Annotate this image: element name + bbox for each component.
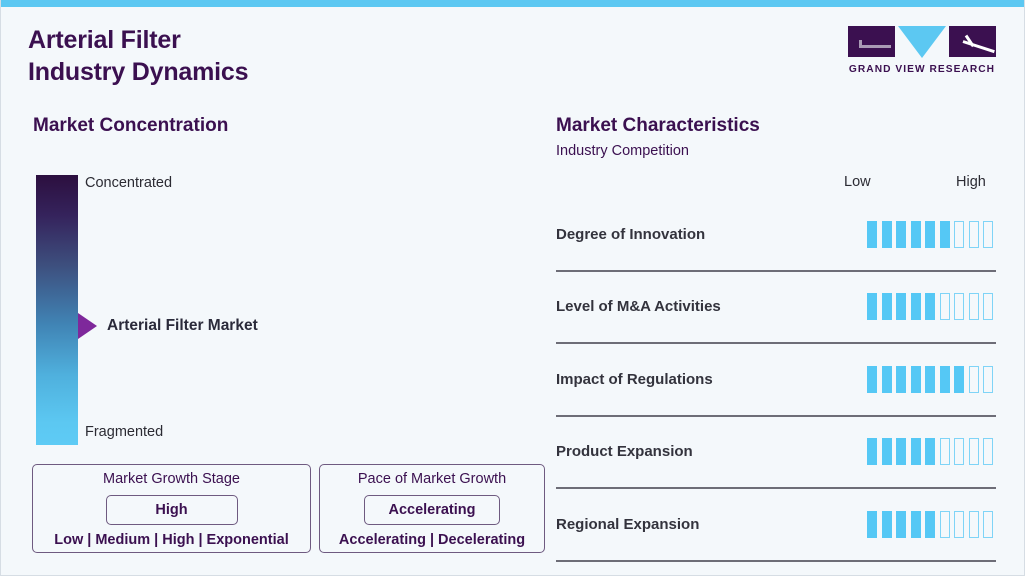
rating-segment-filled: [911, 293, 921, 320]
triangle-pointer-icon: [78, 313, 97, 339]
rating-segment-empty: [969, 221, 979, 248]
logo-wordmark: GRAND VIEW RESEARCH: [848, 64, 996, 75]
logo-marks: [848, 26, 996, 59]
logo-box-right-icon: [949, 26, 996, 57]
rating-segment-filled: [882, 366, 892, 393]
rating-segment-empty: [954, 293, 964, 320]
market-characteristics-subtitle: Industry Competition: [556, 143, 689, 159]
rating-segment-filled: [867, 366, 877, 393]
market-growth-stage-value-chip: High: [106, 495, 238, 525]
page-title-line-2: Industry Dynamics: [28, 56, 248, 88]
characteristic-label: Regional Expansion: [556, 516, 867, 533]
rating-segment-filled: [896, 366, 906, 393]
concentration-gradient-bar: [36, 175, 78, 445]
characteristic-label: Product Expansion: [556, 443, 867, 460]
rating-segment-filled: [882, 511, 892, 538]
logo-accent-vertical: [859, 40, 862, 48]
rating-segment-filled: [882, 293, 892, 320]
scale-legend-low: Low: [844, 174, 871, 190]
grand-view-research-logo: GRAND VIEW RESEARCH: [848, 26, 996, 75]
rating-segment-filled: [896, 293, 906, 320]
rating-segment-filled: [925, 511, 935, 538]
characteristic-rating-bars: [867, 293, 993, 320]
concentration-top-label: Concentrated: [85, 175, 172, 191]
rating-segment-filled: [925, 438, 935, 465]
characteristic-row: Level of M&A Activities: [556, 272, 996, 345]
rating-segment-filled: [882, 221, 892, 248]
logo-triangle-icon: [898, 26, 946, 58]
rating-segment-empty: [983, 366, 993, 393]
market-position-marker: Arterial Filter Market: [78, 313, 258, 339]
characteristic-label: Level of M&A Activities: [556, 298, 867, 315]
market-growth-pace-value: Accelerating: [388, 502, 475, 518]
rating-segment-filled: [925, 293, 935, 320]
market-growth-stage-box: Market Growth Stage High Low | Medium | …: [32, 464, 311, 553]
characteristic-label: Impact of Regulations: [556, 371, 867, 388]
rating-segment-empty: [983, 511, 993, 538]
logo-arrow-line-a: [963, 40, 995, 53]
rating-segment-filled: [954, 366, 964, 393]
rating-segment-empty: [954, 438, 964, 465]
rating-segment-empty: [954, 511, 964, 538]
rating-segment-empty: [954, 221, 964, 248]
rating-segment-empty: [940, 293, 950, 320]
rating-segment-filled: [940, 366, 950, 393]
rating-segment-empty: [983, 438, 993, 465]
market-growth-pace-box: Pace of Market Growth Accelerating Accel…: [319, 464, 545, 553]
rating-segment-filled: [896, 511, 906, 538]
market-growth-pace-options: Accelerating | Decelerating: [329, 532, 535, 548]
characteristic-row: Product Expansion: [556, 417, 996, 490]
page-title: Arterial Filter Industry Dynamics: [28, 24, 248, 88]
rating-segment-filled: [867, 438, 877, 465]
characteristic-row: Impact of Regulations: [556, 344, 996, 417]
rating-segment-filled: [867, 293, 877, 320]
rating-segment-filled: [896, 438, 906, 465]
market-growth-stage-title: Market Growth Stage: [42, 472, 301, 488]
market-growth-pace-value-chip: Accelerating: [364, 495, 500, 525]
rating-segment-empty: [940, 438, 950, 465]
characteristic-label: Degree of Innovation: [556, 226, 867, 243]
rating-segment-filled: [925, 221, 935, 248]
market-position-marker-label: Arterial Filter Market: [107, 317, 258, 335]
characteristic-row: Regional Expansion: [556, 489, 996, 562]
characteristic-row: Degree of Innovation: [556, 199, 996, 272]
rating-segment-filled: [867, 221, 877, 248]
rating-segment-filled: [867, 511, 877, 538]
characteristic-rating-bars: [867, 366, 993, 393]
rating-segment-filled: [925, 366, 935, 393]
rating-segment-filled: [911, 438, 921, 465]
concentration-bottom-label: Fragmented: [85, 424, 163, 440]
logo-accent-horizontal: [859, 45, 891, 48]
page-title-line-1: Arterial Filter: [28, 24, 248, 56]
market-characteristics-rows: Degree of InnovationLevel of M&A Activit…: [556, 199, 996, 562]
top-accent-bar: [1, 0, 1025, 7]
market-growth-stage-value: High: [155, 502, 187, 518]
rating-segment-empty: [969, 438, 979, 465]
scale-legend-high: High: [956, 174, 986, 190]
characteristic-rating-bars: [867, 511, 993, 538]
rating-segment-empty: [969, 293, 979, 320]
rating-segment-empty: [969, 511, 979, 538]
rating-segment-filled: [940, 221, 950, 248]
market-concentration-heading: Market Concentration: [33, 115, 228, 137]
rating-segment-filled: [896, 221, 906, 248]
infographic-canvas: Arterial Filter Industry Dynamics GRAND …: [0, 0, 1025, 576]
characteristic-rating-bars: [867, 221, 993, 248]
characteristic-rating-bars: [867, 438, 993, 465]
market-growth-pace-title: Pace of Market Growth: [329, 472, 535, 488]
rating-segment-filled: [911, 366, 921, 393]
rating-segment-filled: [882, 438, 892, 465]
rating-segment-filled: [911, 221, 921, 248]
rating-segment-filled: [911, 511, 921, 538]
logo-box-left-icon: [848, 26, 895, 57]
rating-segment-empty: [983, 221, 993, 248]
rating-segment-empty: [983, 293, 993, 320]
market-growth-stage-options: Low | Medium | High | Exponential: [42, 532, 301, 548]
market-characteristics-heading: Market Characteristics: [556, 115, 760, 137]
rating-segment-empty: [969, 366, 979, 393]
rating-segment-empty: [940, 511, 950, 538]
